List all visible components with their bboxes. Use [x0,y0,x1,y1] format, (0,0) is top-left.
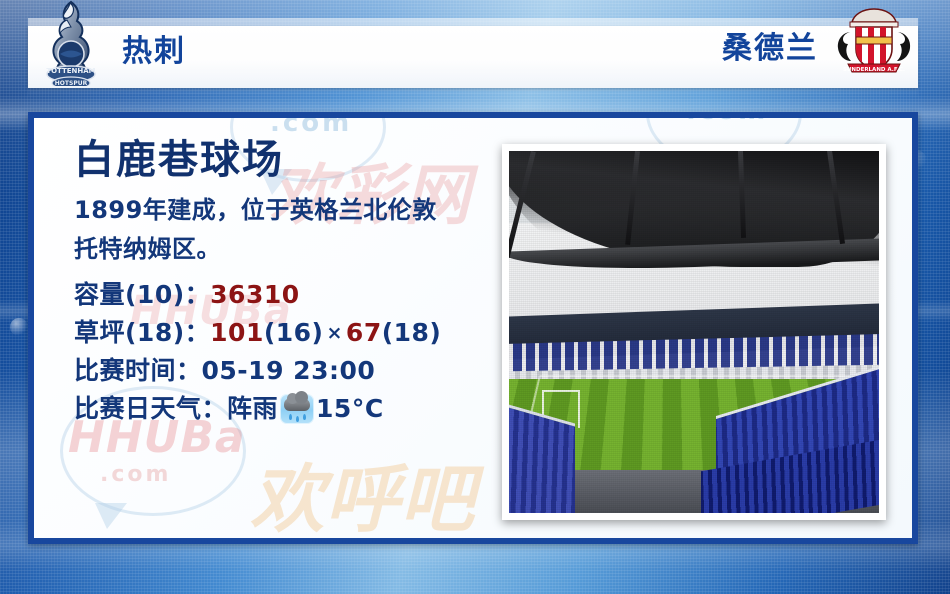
watermark-brand-cn: 欢呼吧 [250,440,475,538]
home-team-name: 热刺 [122,26,186,70]
temperature-value: 15°C [316,394,384,423]
sunderland-afc-crest-icon: SUNDERLAND A.F.C. [832,6,916,80]
stadium-photo [509,151,879,513]
match-time-row: 比赛时间：05-19 23:00 [74,352,504,390]
stadium-description-line1: 1899年建成，位于英格兰北伦敦 [74,194,504,227]
tottenham-hotspur-crest-icon: TOTTENHAM HOTSPUR [34,0,108,86]
pitch-length-unit: (16) [264,318,324,347]
pitch-times-symbol: × [324,322,346,344]
match-time-label: 比赛时间： [74,356,202,385]
pitch-width: 67 [346,318,382,347]
weather-value: 阵雨 [227,394,278,423]
pitch-row: 草坪(18)：101(16)×67(18) [74,314,504,352]
stadium-description-line2: 托特纳姆区。 [74,233,504,266]
watermark-domain: .com [100,462,171,487]
svg-text:SUNDERLAND A.F.C.: SUNDERLAND A.F.C. [843,67,905,73]
svg-text:TOTTENHAM: TOTTENHAM [46,67,95,75]
stadium-title: 白鹿巷球场 [74,140,504,180]
away-team-block: 桑德兰 SUNDERLAND A.F.C. [722,10,916,80]
capacity-label: 容量(10)： [74,280,210,309]
capacity-value: 36310 [210,280,299,309]
match-time-value: 05-19 23:00 [202,356,376,385]
stadium-info-card: TOTTENHAM HOTSPUR 热刺 桑德兰 [0,0,950,594]
panel-inner: .com .com HHUBa .com 欢彩网 欢呼吧 HHUBa 白鹿巷球场… [34,118,912,538]
rain-shower-icon [280,394,314,424]
pitch-width-unit: (18) [382,318,442,347]
stadium-info: 白鹿巷球场 1899年建成，位于英格兰北伦敦 托特纳姆区。 容量(10)：363… [74,140,504,428]
watermark-domain: .com [686,118,768,126]
home-team-block: TOTTENHAM HOTSPUR 热刺 [34,10,186,86]
svg-text:HOTSPUR: HOTSPUR [55,80,88,86]
capacity-row: 容量(10)：36310 [74,276,504,314]
weather-label: 比赛日天气： [74,394,227,423]
watermark-domain: .com [270,118,352,138]
pitch-label: 草坪(18)： [74,318,210,347]
away-team-name: 桑德兰 [722,23,818,67]
content-panel: .com .com HHUBa .com 欢彩网 欢呼吧 HHUBa 白鹿巷球场… [28,112,918,544]
photo-grain-overlay [509,151,879,513]
weather-row: 比赛日天气：阵雨15°C [74,390,504,428]
background-orb [10,318,28,336]
stadium-photo-frame [502,144,886,520]
pitch-length: 101 [210,318,264,347]
